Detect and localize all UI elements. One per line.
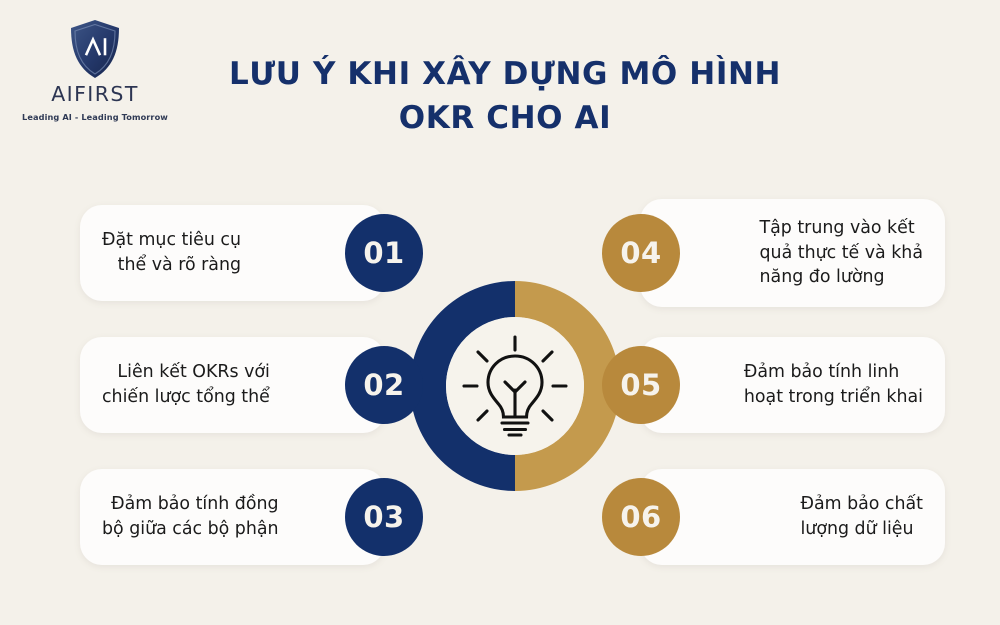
list-item[interactable]: Đảm bảo chất lượng dữ liệu 06 [640,469,945,565]
brand-logo: AIFIRST Leading AI - Leading Tomorrow [22,18,168,122]
card-number-badge: 05 [602,346,680,424]
card-number-badge: 03 [345,478,423,556]
card-text: Liên kết OKRs với chiến lược tổng thể [80,360,348,409]
card-text: Đảm bảo chất lượng dữ liệu [722,492,945,541]
card-number-badge: 06 [602,478,680,556]
card-text-line-1: Đảm bảo tính linh [744,362,899,382]
brand-tagline: Leading AI - Leading Tomorrow [22,112,168,122]
lightbulb-icon [458,334,572,438]
card-text-line-1: Tập trung vào kết [760,218,915,238]
page-title-line-2: OKR CHO AI [215,96,795,140]
card-text: Đảm bảo tính linh hoạt trong triển khai [666,360,945,409]
card-number-badge: 04 [602,214,680,292]
card-text-line-1: Liên kết OKRs với [117,362,269,382]
list-item[interactable]: Đặt mục tiêu cụ thể và rõ ràng 01 [80,205,385,301]
list-item[interactable]: Tập trung vào kết quả thực tế và khả năn… [640,199,945,307]
list-item[interactable]: Đảm bảo tính đồng bộ giữa các bộ phận 03 [80,469,385,565]
card-text-line-2: lượng dữ liệu [800,519,913,539]
card-number-badge: 01 [345,214,423,292]
card-text-line-1: Đảm bảo tính đồng [111,494,278,514]
card-text-line-2: chiến lược tổng thể [102,387,270,407]
card-text-line-2: bộ giữa các bộ phận [102,519,279,539]
infographic-canvas: AIFIRST Leading AI - Leading Tomorrow LƯ… [0,0,1000,625]
card-text: Đảm bảo tính đồng bộ giữa các bộ phận [80,492,357,541]
brand-name: AIFIRST [22,84,168,105]
ai-shield-icon [67,18,123,80]
card-text-line-3: năng đo lường [760,267,885,287]
card-text: Tập trung vào kết quả thực tế và khả năn… [682,216,945,290]
list-item[interactable]: Liên kết OKRs với chiến lược tổng thể 02 [80,337,385,433]
card-text-line-2: hoạt trong triển khai [744,387,923,407]
card-number-badge: 02 [345,346,423,424]
card-text-line-1: Đảm bảo chất [800,494,923,514]
page-title-line-1: LƯU Ý KHI XÂY DỰNG MÔ HÌNH [229,56,781,92]
card-text-line-1: Đặt mục tiêu cụ [102,230,241,250]
page-title: LƯU Ý KHI XÂY DỰNG MÔ HÌNH OKR CHO AI [215,52,795,140]
card-text: Đặt mục tiêu cụ thể và rõ ràng [80,228,319,277]
card-text-line-2: thể và rõ ràng [118,255,241,275]
list-item[interactable]: Đảm bảo tính linh hoạt trong triển khai … [640,337,945,433]
card-text-line-2: quả thực tế và khả [760,243,923,263]
